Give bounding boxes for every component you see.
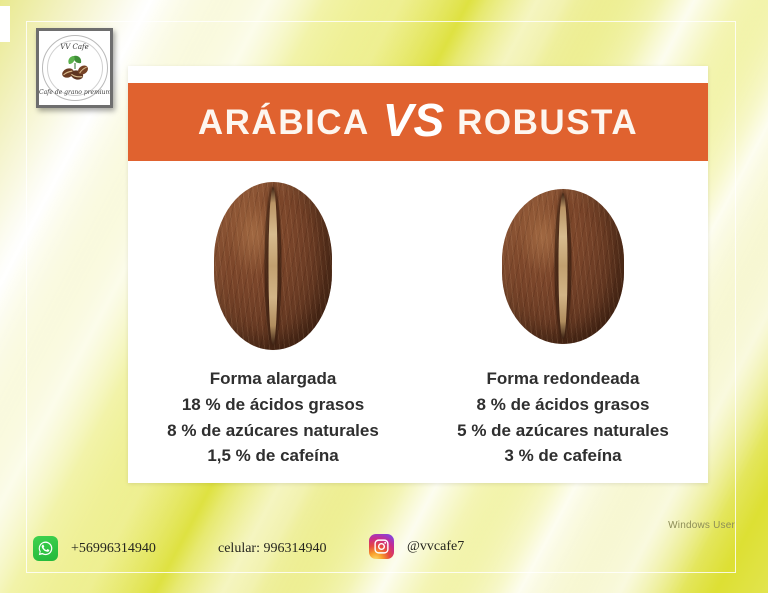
whatsapp-icon[interactable] (33, 536, 58, 561)
coffee-bean-elongated-icon (214, 182, 332, 350)
facts-arabica: Forma alargada 18 % de ácidos grasos 8 %… (128, 366, 418, 469)
title-robusta: ROBUSTA (457, 105, 638, 140)
fact-line: 5 % de azúcares naturales (418, 418, 708, 444)
instagram-icon[interactable] (369, 534, 394, 559)
title-vs: VS (383, 97, 444, 143)
bean-cell-robusta (418, 166, 708, 366)
fact-line: 8 % de azúcares naturales (128, 418, 418, 444)
whatsapp-number: +56996314940 (71, 541, 156, 557)
beans-row (128, 166, 708, 366)
bean-cell-arabica (128, 166, 418, 366)
coffee-bean-rounded-icon (502, 189, 624, 344)
fact-line: 1,5 % de cafeína (128, 443, 418, 469)
instagram-handle: @vvcafe7 (407, 539, 464, 555)
fact-line: Forma redondeada (418, 366, 708, 392)
contact-celular: celular: 996314940 (218, 541, 326, 557)
bean-crack (269, 187, 278, 345)
fact-line: 18 % de ácidos grasos (128, 392, 418, 418)
edge-notch (0, 6, 10, 42)
celular-label: celular: 996314940 (218, 541, 326, 557)
fact-line: 8 % de ácidos grasos (418, 392, 708, 418)
brand-logo: VV Cafe Cafe de grano premium (36, 28, 113, 108)
contact-bar: +56996314940 celular: 996314940 @vvcafe7 (0, 530, 768, 570)
logo-script-bottom: Cafe de grano premium (39, 89, 110, 96)
logo-script-top: VV Cafe (39, 43, 110, 51)
fact-line: Forma alargada (128, 366, 418, 392)
header-banner: ARÁBICA VS ROBUSTA (128, 83, 708, 161)
fact-line: 3 % de cafeína (418, 443, 708, 469)
coffee-beans-leaves-icon (55, 53, 95, 83)
bean-crack (559, 193, 568, 339)
content-panel: ARÁBICA VS ROBUSTA Fo (128, 66, 708, 483)
facts-robusta: Forma redondeada 8 % de ácidos grasos 5 … (418, 366, 708, 469)
slide-canvas: VV Cafe Cafe de grano premium ARÁBICA VS… (0, 0, 768, 593)
contact-instagram[interactable]: @vvcafe7 (369, 534, 464, 559)
title-arabica: ARÁBICA (198, 105, 370, 140)
contact-whatsapp[interactable]: +56996314940 (33, 536, 156, 561)
